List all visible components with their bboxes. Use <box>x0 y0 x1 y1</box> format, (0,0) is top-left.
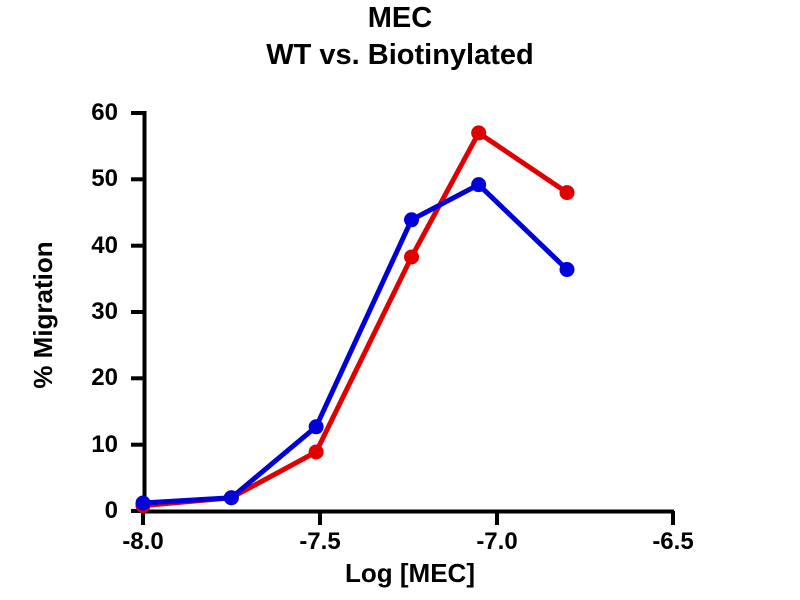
y-axis-label-text: % Migration <box>28 190 59 440</box>
x-axis-label: Log [MEC] <box>140 558 680 589</box>
x-tick-label-minus8: -8.0 <box>103 528 183 556</box>
data-point <box>309 419 324 434</box>
series-line-biotinylated <box>136 125 575 513</box>
y-tick-label-40: 40 <box>58 232 118 260</box>
y-tick-label-50: 50 <box>58 165 118 193</box>
y-tick-label-10: 10 <box>58 431 118 459</box>
data-point <box>471 125 486 140</box>
data-point <box>471 177 486 192</box>
data-point <box>309 444 324 459</box>
data-point <box>136 496 151 511</box>
y-tick-label-30: 30 <box>58 298 118 326</box>
y-tick-label-60: 60 <box>58 99 118 127</box>
y-axis-label: % Migration <box>28 0 59 190</box>
series-line-wt <box>136 177 575 510</box>
chart-figure: MEC WT vs. Biotinylated <box>0 0 800 600</box>
data-point <box>560 262 575 277</box>
x-tick-label-minus7: -7.0 <box>457 528 537 556</box>
x-tick-label-minus6-5: -6.5 <box>633 528 713 556</box>
data-point <box>224 490 239 505</box>
y-tick-label-20: 20 <box>58 364 118 392</box>
x-tick-label-minus7-5: -7.5 <box>280 528 360 556</box>
data-point <box>560 185 575 200</box>
data-point <box>404 249 419 264</box>
y-tick-label-0: 0 <box>58 497 118 525</box>
plot-area <box>0 0 800 600</box>
data-point <box>404 212 419 227</box>
